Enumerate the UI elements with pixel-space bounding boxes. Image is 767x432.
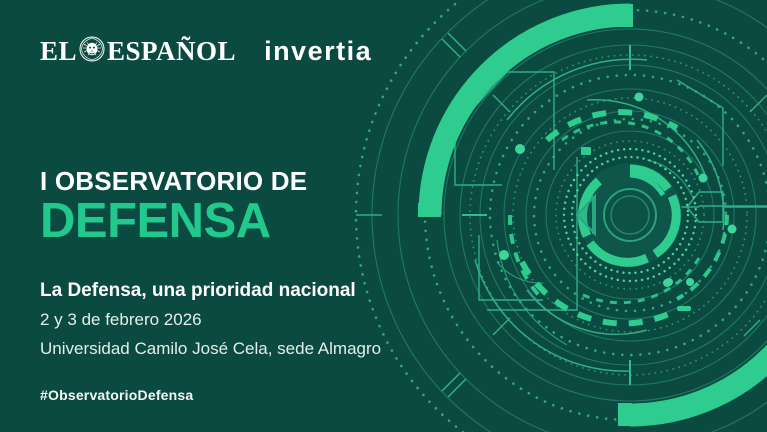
event-subtitle: La Defensa, una prioridad nacional [40,280,381,303]
event-headline: DEFENSA [40,197,381,246]
radar-hud-graphic [347,0,767,432]
logo-invertia[interactable]: invertia [264,38,372,65]
lion-head-emblem-icon [79,36,105,67]
event-hashtag[interactable]: #ObservatorioDefensa [40,387,381,403]
logo-bar: EL ES [40,36,372,67]
event-date: 2 y 3 de febrero 2026 [40,309,381,332]
event-kicker: I OBSERVATORIO DE [40,168,381,195]
poster-canvas: EL ES [0,0,767,432]
event-copy-block: I OBSERVATORIO DE DEFENSA La Defensa, un… [40,168,381,403]
logo-el-espanol-prefix: EL [40,38,77,65]
logo-el-espanol-name: ESPAÑOL [107,38,236,65]
logo-el-espanol[interactable]: EL ES [40,36,236,67]
event-venue: Universidad Camilo José Cela, sede Almag… [40,338,381,361]
